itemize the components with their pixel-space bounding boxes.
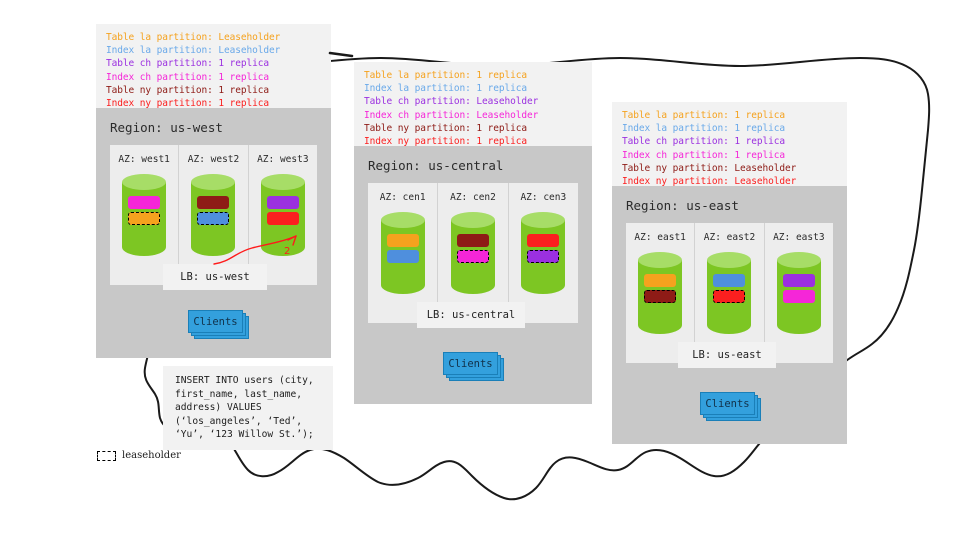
az-label: AZ: east1 [634,232,685,243]
az-label: AZ: cen1 [380,192,426,203]
replica-bar [644,274,676,287]
clients-label: Clients [443,352,498,375]
clients-us-east[interactable]: Clients [700,392,762,422]
partition-line: Index ch partition: Leaseholder [354,109,592,122]
node-cylinder[interactable] [191,174,235,256]
node-cylinder[interactable] [261,174,305,256]
replica-bar [267,212,299,225]
node-cylinder[interactable] [451,212,495,294]
sql-line: INSERT INTO users (city, [175,374,323,388]
sql-line: (‘los_angeles’, ‘Ted’, [175,415,323,429]
node-cylinder[interactable] [777,252,821,334]
replica-bar-leaseholder [713,290,745,303]
node-cylinder[interactable] [521,212,565,294]
partition-line: Table ch partition: Leaseholder [354,95,592,108]
partition-line: Table la partition: 1 replica [612,109,847,122]
replica-bar [387,234,419,247]
az-label: AZ: east3 [773,232,824,243]
partition-summary-us-east: Table la partition: 1 replica Index la p… [612,102,847,186]
load-balancer-us-east[interactable]: LB: us-east [678,342,776,368]
legend-label: leaseholder [122,450,181,461]
clients-label: Clients [188,310,243,333]
partition-line: Table la partition: Leaseholder [96,31,331,44]
replica-bar-leaseholder [644,290,676,303]
sql-line: address) VALUES [175,401,323,415]
partition-line: Index la partition: Leaseholder [96,44,331,57]
partition-summary-us-central: Table la partition: 1 replica Index la p… [354,62,592,146]
replica-bar-leaseholder [128,212,160,225]
partition-line: Table la partition: 1 replica [354,69,592,82]
dashed-rect-icon [97,451,116,461]
sql-statement-box: INSERT INTO users (city, first_name, las… [163,366,333,450]
legend: leaseholder [97,450,181,461]
node-cylinder[interactable] [122,174,166,256]
replica-bar-leaseholder [197,212,229,225]
partition-line: Index ch partition: 1 replica [612,149,847,162]
clients-us-west[interactable]: Clients [188,310,250,340]
replica-bar [783,290,815,303]
az-label: AZ: east2 [704,232,755,243]
clients-label: Clients [700,392,755,415]
sql-line: first_name, last_name, [175,388,323,402]
region-title: Region: us-east [612,186,847,223]
region-title: Region: us-central [354,146,592,183]
replica-bar-leaseholder [527,250,559,263]
az-label: AZ: west2 [188,154,239,165]
partition-line: Table ny partition: 1 replica [354,122,592,135]
load-balancer-us-central[interactable]: LB: us-central [417,302,525,328]
node-cylinder[interactable] [638,252,682,334]
partition-line: Table ny partition: Leaseholder [612,162,847,175]
partition-line: Table ch partition: 1 replica [612,135,847,148]
replica-bar [197,196,229,209]
load-balancer-us-west[interactable]: LB: us-west [163,264,267,290]
sql-line: ‘Yu’, ‘123 Willow St.’); [175,428,323,442]
az-label: AZ: west1 [118,154,169,165]
partition-summary-us-west: Table la partition: Leaseholder Index la… [96,24,331,108]
az-label: AZ: west3 [257,154,308,165]
replica-bar [783,274,815,287]
replica-bar [128,196,160,209]
replica-bar [387,250,419,263]
replica-bar [267,196,299,209]
node-cylinder[interactable] [707,252,751,334]
partition-line: Index la partition: 1 replica [612,122,847,135]
partition-line: Index ch partition: 1 replica [96,71,331,84]
clients-us-central[interactable]: Clients [443,352,505,382]
annotation-step-number: 2 [284,246,290,257]
replica-bar [527,234,559,247]
node-cylinder[interactable] [381,212,425,294]
partition-line: Table ch partition: 1 replica [96,57,331,70]
partition-line: Table ny partition: 1 replica [96,84,331,97]
diagram-canvas: Table la partition: Leaseholder Index la… [0,0,960,540]
replica-bar [713,274,745,287]
replica-bar [457,234,489,247]
partition-line: Index la partition: 1 replica [354,82,592,95]
region-title: Region: us-west [96,108,331,145]
az-label: AZ: cen2 [450,192,496,203]
replica-bar-leaseholder [457,250,489,263]
az-label: AZ: cen3 [520,192,566,203]
